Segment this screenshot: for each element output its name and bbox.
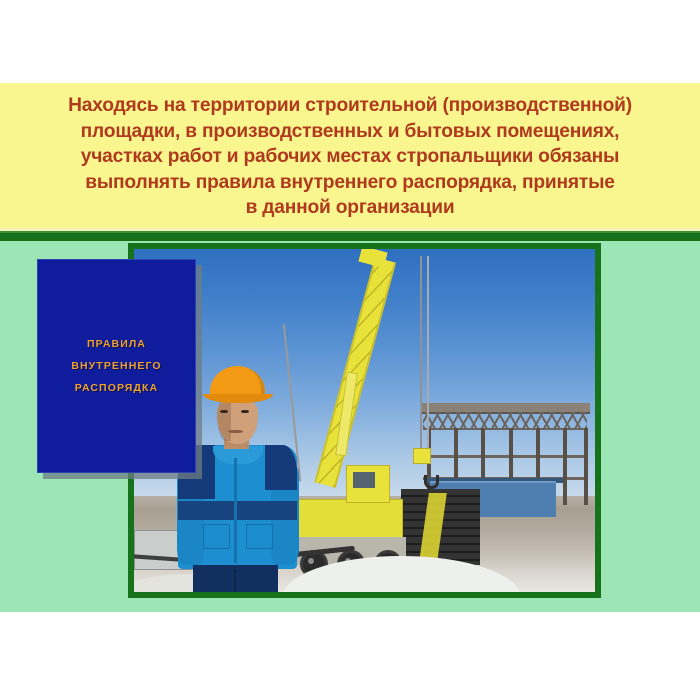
rules-card-line-2: ВНУТРЕННЕГО — [71, 355, 161, 377]
worker-jacket-pocket — [246, 524, 273, 549]
crane-hoist-cable — [427, 256, 429, 455]
worker-jacket-placket — [234, 458, 237, 562]
crane-superstructure — [291, 499, 404, 542]
worker-jacket-pocket — [203, 524, 230, 549]
headline-banner: Находясь на территории строительной (про… — [0, 83, 700, 231]
headline-text: Находясь на территории строительной (про… — [3, 93, 697, 221]
rules-card-line-3: РАСПОРЯДКА — [75, 377, 158, 399]
rules-card[interactable]: ПРАВИЛА ВНУТРЕННЕГО РАСПОРЯДКА — [37, 259, 196, 473]
construction-site-photo — [134, 249, 595, 592]
building-column — [563, 428, 567, 505]
green-divider-highlight — [0, 231, 700, 233]
worker-trouser-seam — [234, 569, 236, 592]
crane-hook-block — [413, 448, 431, 464]
building-column — [584, 428, 588, 505]
crane-cab-window — [353, 472, 375, 488]
worker-right-shoulder-panel — [265, 445, 297, 490]
slide-canvas: Находясь на территории строительной (про… — [0, 0, 700, 700]
worker-jacket-waist-band — [178, 501, 297, 519]
crane-hoist-cable — [420, 256, 422, 455]
hard-hat-brim — [203, 394, 273, 404]
worker-face-shadow — [217, 398, 232, 441]
rules-card-line-1: ПРАВИЛА — [87, 333, 146, 355]
